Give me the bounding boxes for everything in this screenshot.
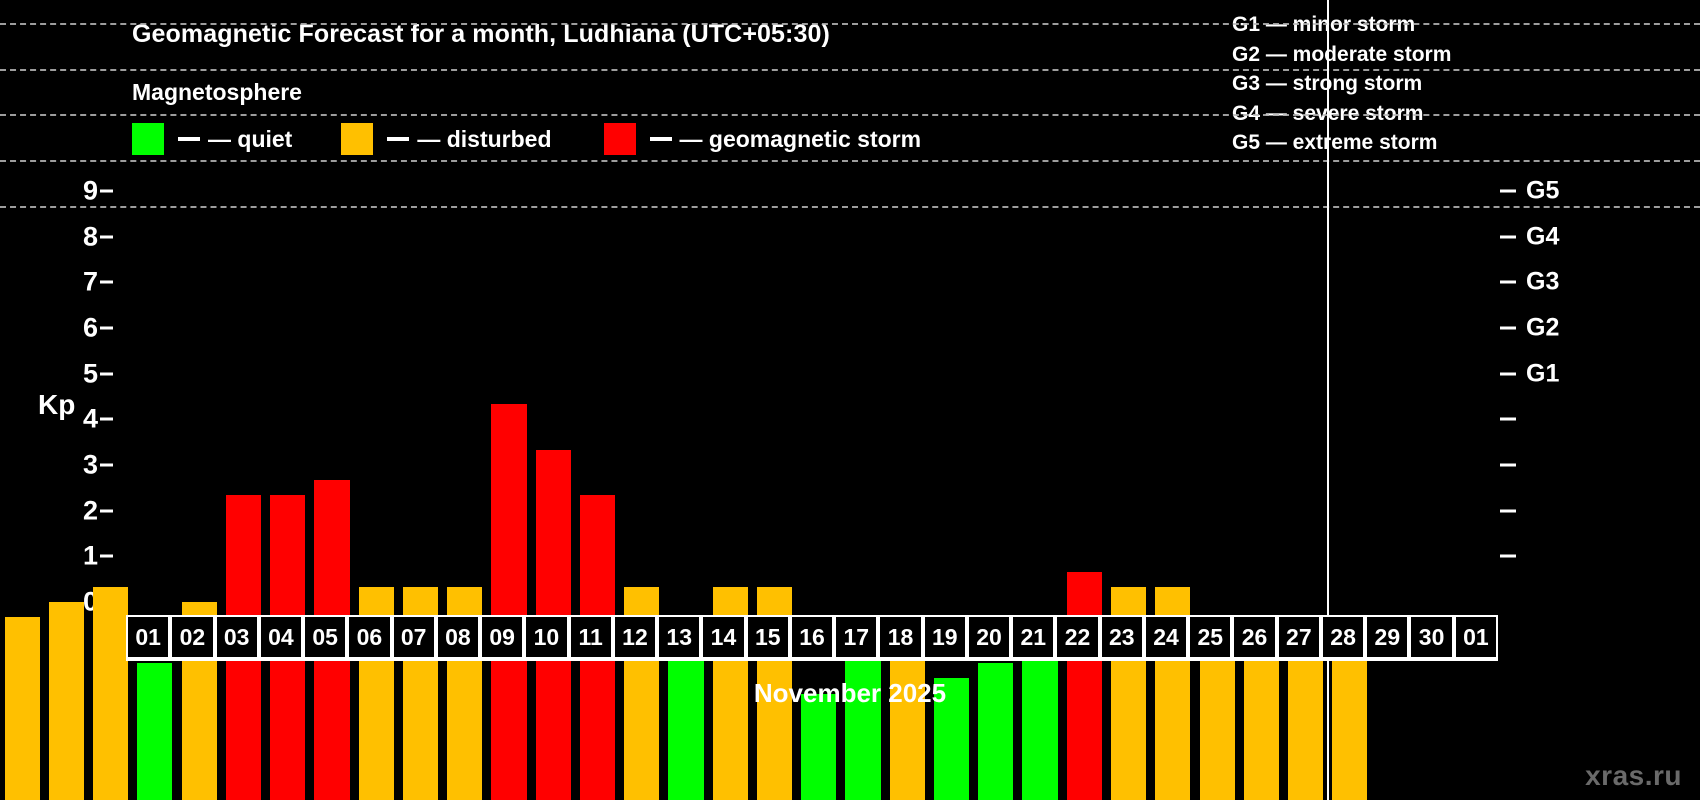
day-label-0[interactable]: 01 <box>126 615 170 659</box>
day-label-19[interactable]: 20 <box>967 615 1011 659</box>
day-label-strip: 0102030405060708091011121314151617181920… <box>126 615 1498 659</box>
month-caption: November 2025 <box>0 678 1700 709</box>
g-tick-label-G1: G1 <box>1526 359 1559 388</box>
bar-day-20[interactable] <box>845 648 880 800</box>
day-label-30[interactable]: 01 <box>1454 615 1498 659</box>
day-label-29[interactable]: 30 <box>1409 615 1453 659</box>
day-label-28[interactable]: 29 <box>1365 615 1409 659</box>
day-label-20[interactable]: 21 <box>1011 615 1055 659</box>
day-label-3[interactable]: 04 <box>259 615 303 659</box>
day-label-1[interactable]: 02 <box>170 615 214 659</box>
g-tick-label-G4: G4 <box>1526 222 1559 251</box>
day-label-16[interactable]: 17 <box>834 615 878 659</box>
g-tick-mark-G2 <box>1500 326 1516 329</box>
day-label-15[interactable]: 16 <box>790 615 834 659</box>
day-label-8[interactable]: 09 <box>480 615 524 659</box>
g-axis-minor-tick-kp-2 <box>1500 509 1516 512</box>
bar-day-19[interactable] <box>801 694 836 800</box>
g-tick-label-G2: G2 <box>1526 313 1559 342</box>
day-label-9[interactable]: 10 <box>524 615 568 659</box>
g-axis-minor-tick-kp-1 <box>1500 555 1516 558</box>
day-label-23[interactable]: 24 <box>1144 615 1188 659</box>
bar-day-12[interactable] <box>491 404 526 800</box>
day-label-12[interactable]: 13 <box>657 615 701 659</box>
g-axis-minor-tick-kp-3 <box>1500 463 1516 466</box>
day-label-7[interactable]: 08 <box>436 615 480 659</box>
day-label-6[interactable]: 07 <box>392 615 436 659</box>
watermark: xras.ru <box>1585 760 1682 792</box>
day-label-22[interactable]: 23 <box>1100 615 1144 659</box>
g-tick-label-G5: G5 <box>1526 176 1559 205</box>
day-label-25[interactable]: 26 <box>1232 615 1276 659</box>
day-label-27[interactable]: 28 <box>1321 615 1365 659</box>
day-label-24[interactable]: 25 <box>1188 615 1232 659</box>
g-tick-label-G3: G3 <box>1526 268 1559 297</box>
day-label-2[interactable]: 03 <box>215 615 259 659</box>
g-tick-mark-G3 <box>1500 281 1516 284</box>
g-scale-axis: G1G2G3G4G5 <box>1498 168 1698 602</box>
day-label-11[interactable]: 12 <box>613 615 657 659</box>
day-label-13[interactable]: 14 <box>701 615 745 659</box>
day-label-14[interactable]: 15 <box>746 615 790 659</box>
g-tick-mark-G4 <box>1500 235 1516 238</box>
day-label-21[interactable]: 22 <box>1055 615 1099 659</box>
day-label-18[interactable]: 19 <box>923 615 967 659</box>
g-tick-mark-G5 <box>1500 189 1516 192</box>
day-label-26[interactable]: 27 <box>1277 615 1321 659</box>
day-label-4[interactable]: 05 <box>303 615 347 659</box>
day-label-10[interactable]: 11 <box>569 615 613 659</box>
day-label-17[interactable]: 18 <box>878 615 922 659</box>
day-strip-underline <box>126 659 1498 661</box>
g-axis-minor-tick-kp-4 <box>1500 418 1516 421</box>
day-label-5[interactable]: 06 <box>347 615 391 659</box>
g-tick-mark-G1 <box>1500 372 1516 375</box>
